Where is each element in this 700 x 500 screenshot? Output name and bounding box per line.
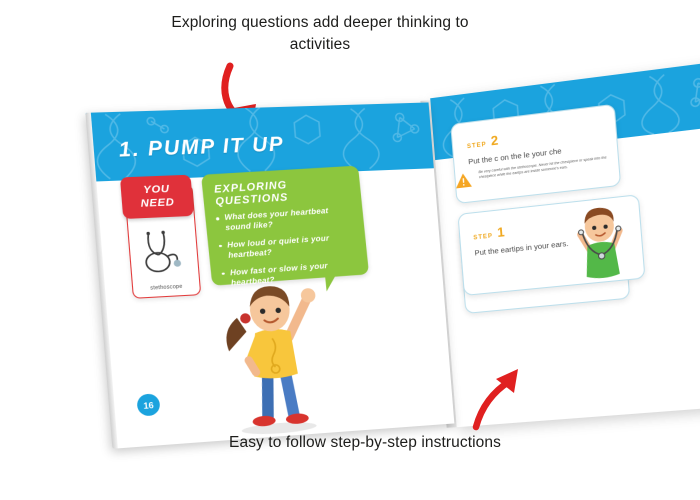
girl-character-illustration [202,268,344,439]
step-3-card: STEP 3 Listen c your he chestpi you fin [458,208,630,314]
you-need-heading: YOU NEED [120,175,194,219]
page-number-badge: 16 [136,393,160,416]
exploring-questions-bubble: EXPLORING QUESTIONS What does your heart… [201,166,369,286]
list-item: How loud or quiet is your heartbeat? [227,231,359,261]
step-3-content: STEP 3 Listen c your he chestpi you fin [474,224,607,271]
book-left-page: 1. PUMP IT UP YOU NEED [85,102,454,448]
screenshot-stage: Exploring questions add deeper thinking … [0,0,700,500]
annotation-top-text: Exploring questions add deeper thinking … [170,12,470,56]
stethoscope-icon [137,229,190,279]
curved-red-arrow-up-icon [466,365,532,431]
open-book: STEP 2 Put the c on the le your che STEP… [83,71,700,471]
you-need-item-caption: stethoscope [133,283,200,293]
step-2-content: STEP 2 Put the c on the le your che [466,119,599,168]
annotation-bottom-text: Easy to follow step-by-step instructions [205,432,525,454]
you-need-card: YOU NEED stethoscope [124,184,201,299]
